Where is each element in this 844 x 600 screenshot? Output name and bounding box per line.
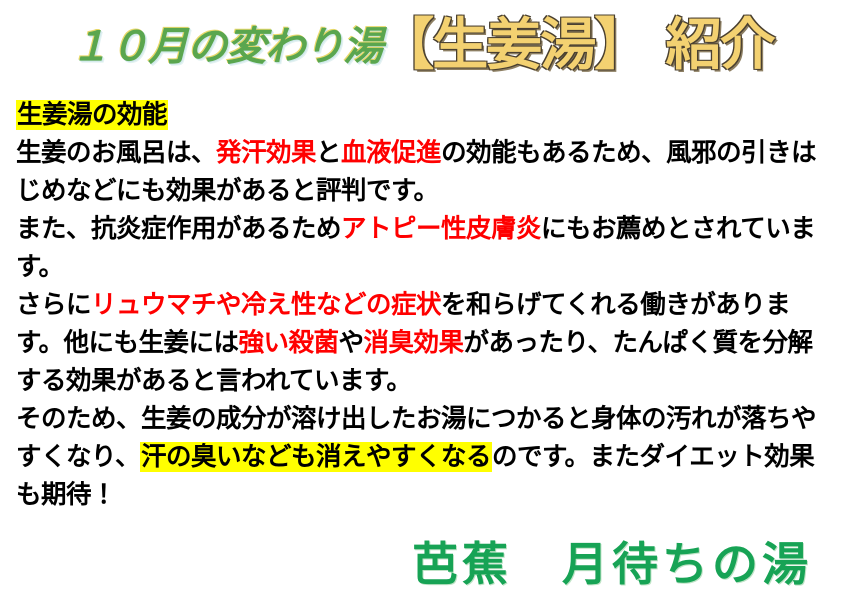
run-p3-4: や — [338, 328, 363, 358]
title-green-text: １０月の変わり湯 — [70, 27, 382, 67]
run-p1-2: と — [316, 138, 341, 168]
paragraph-2: また、抗炎症作用があるためアトピー性皮膚炎にもお薦めとされています。 — [16, 210, 834, 286]
run-p3-1-emphasis: リュウマチや冷え性などの症状 — [91, 290, 441, 320]
run-p3-3-emphasis: 強い殺菌 — [238, 328, 338, 358]
signature: 芭蕉 月待ちの湯 — [0, 528, 812, 594]
run-p1-1-emphasis: 発汗効果 — [216, 138, 316, 168]
run-p1-3-emphasis: 血液促進 — [341, 138, 441, 168]
run-p3-5-emphasis: 消臭効果 — [363, 328, 463, 358]
run-p3-0: さらに — [16, 290, 91, 320]
run-p2-1-emphasis: アトピー性皮膚炎 — [341, 214, 541, 244]
document-title: １０月の変わり湯 【生姜湯】 紹介 — [0, 18, 844, 90]
paragraph-1: 生姜のお風呂は、発汗効果と血液促進の効能もあるため、風邪の引きはじめなどにも効果… — [16, 134, 834, 210]
run-p2-0: また、抗炎症作用があるため — [16, 214, 341, 244]
section-heading-text: 生姜湯の効能 — [16, 100, 168, 130]
document-page: １０月の変わり湯 【生姜湯】 紹介 生姜湯の効能 生姜のお風呂は、発汗効果と血液… — [0, 0, 844, 600]
title-yellow-text: 【生姜湯】 紹介 — [378, 18, 774, 74]
paragraph-3: さらにリュウマチや冷え性などの症状を和らげてくれる働きがあります。他にも生姜には… — [16, 286, 834, 400]
paragraph-4: そのため、生姜の成分が溶け出したお湯につかると身体の汚れが落ちやすくなり、汗の臭… — [16, 400, 834, 514]
section-heading: 生姜湯の効能 — [16, 98, 834, 132]
run-p1-0: 生姜のお風呂は、 — [16, 138, 216, 168]
body-content: 生姜湯の効能 生姜のお風呂は、発汗効果と血液促進の効能もあるため、風邪の引きはじ… — [16, 98, 834, 514]
run-p4-1-highlight: 汗の臭いなども消えやすくなる — [140, 442, 492, 472]
